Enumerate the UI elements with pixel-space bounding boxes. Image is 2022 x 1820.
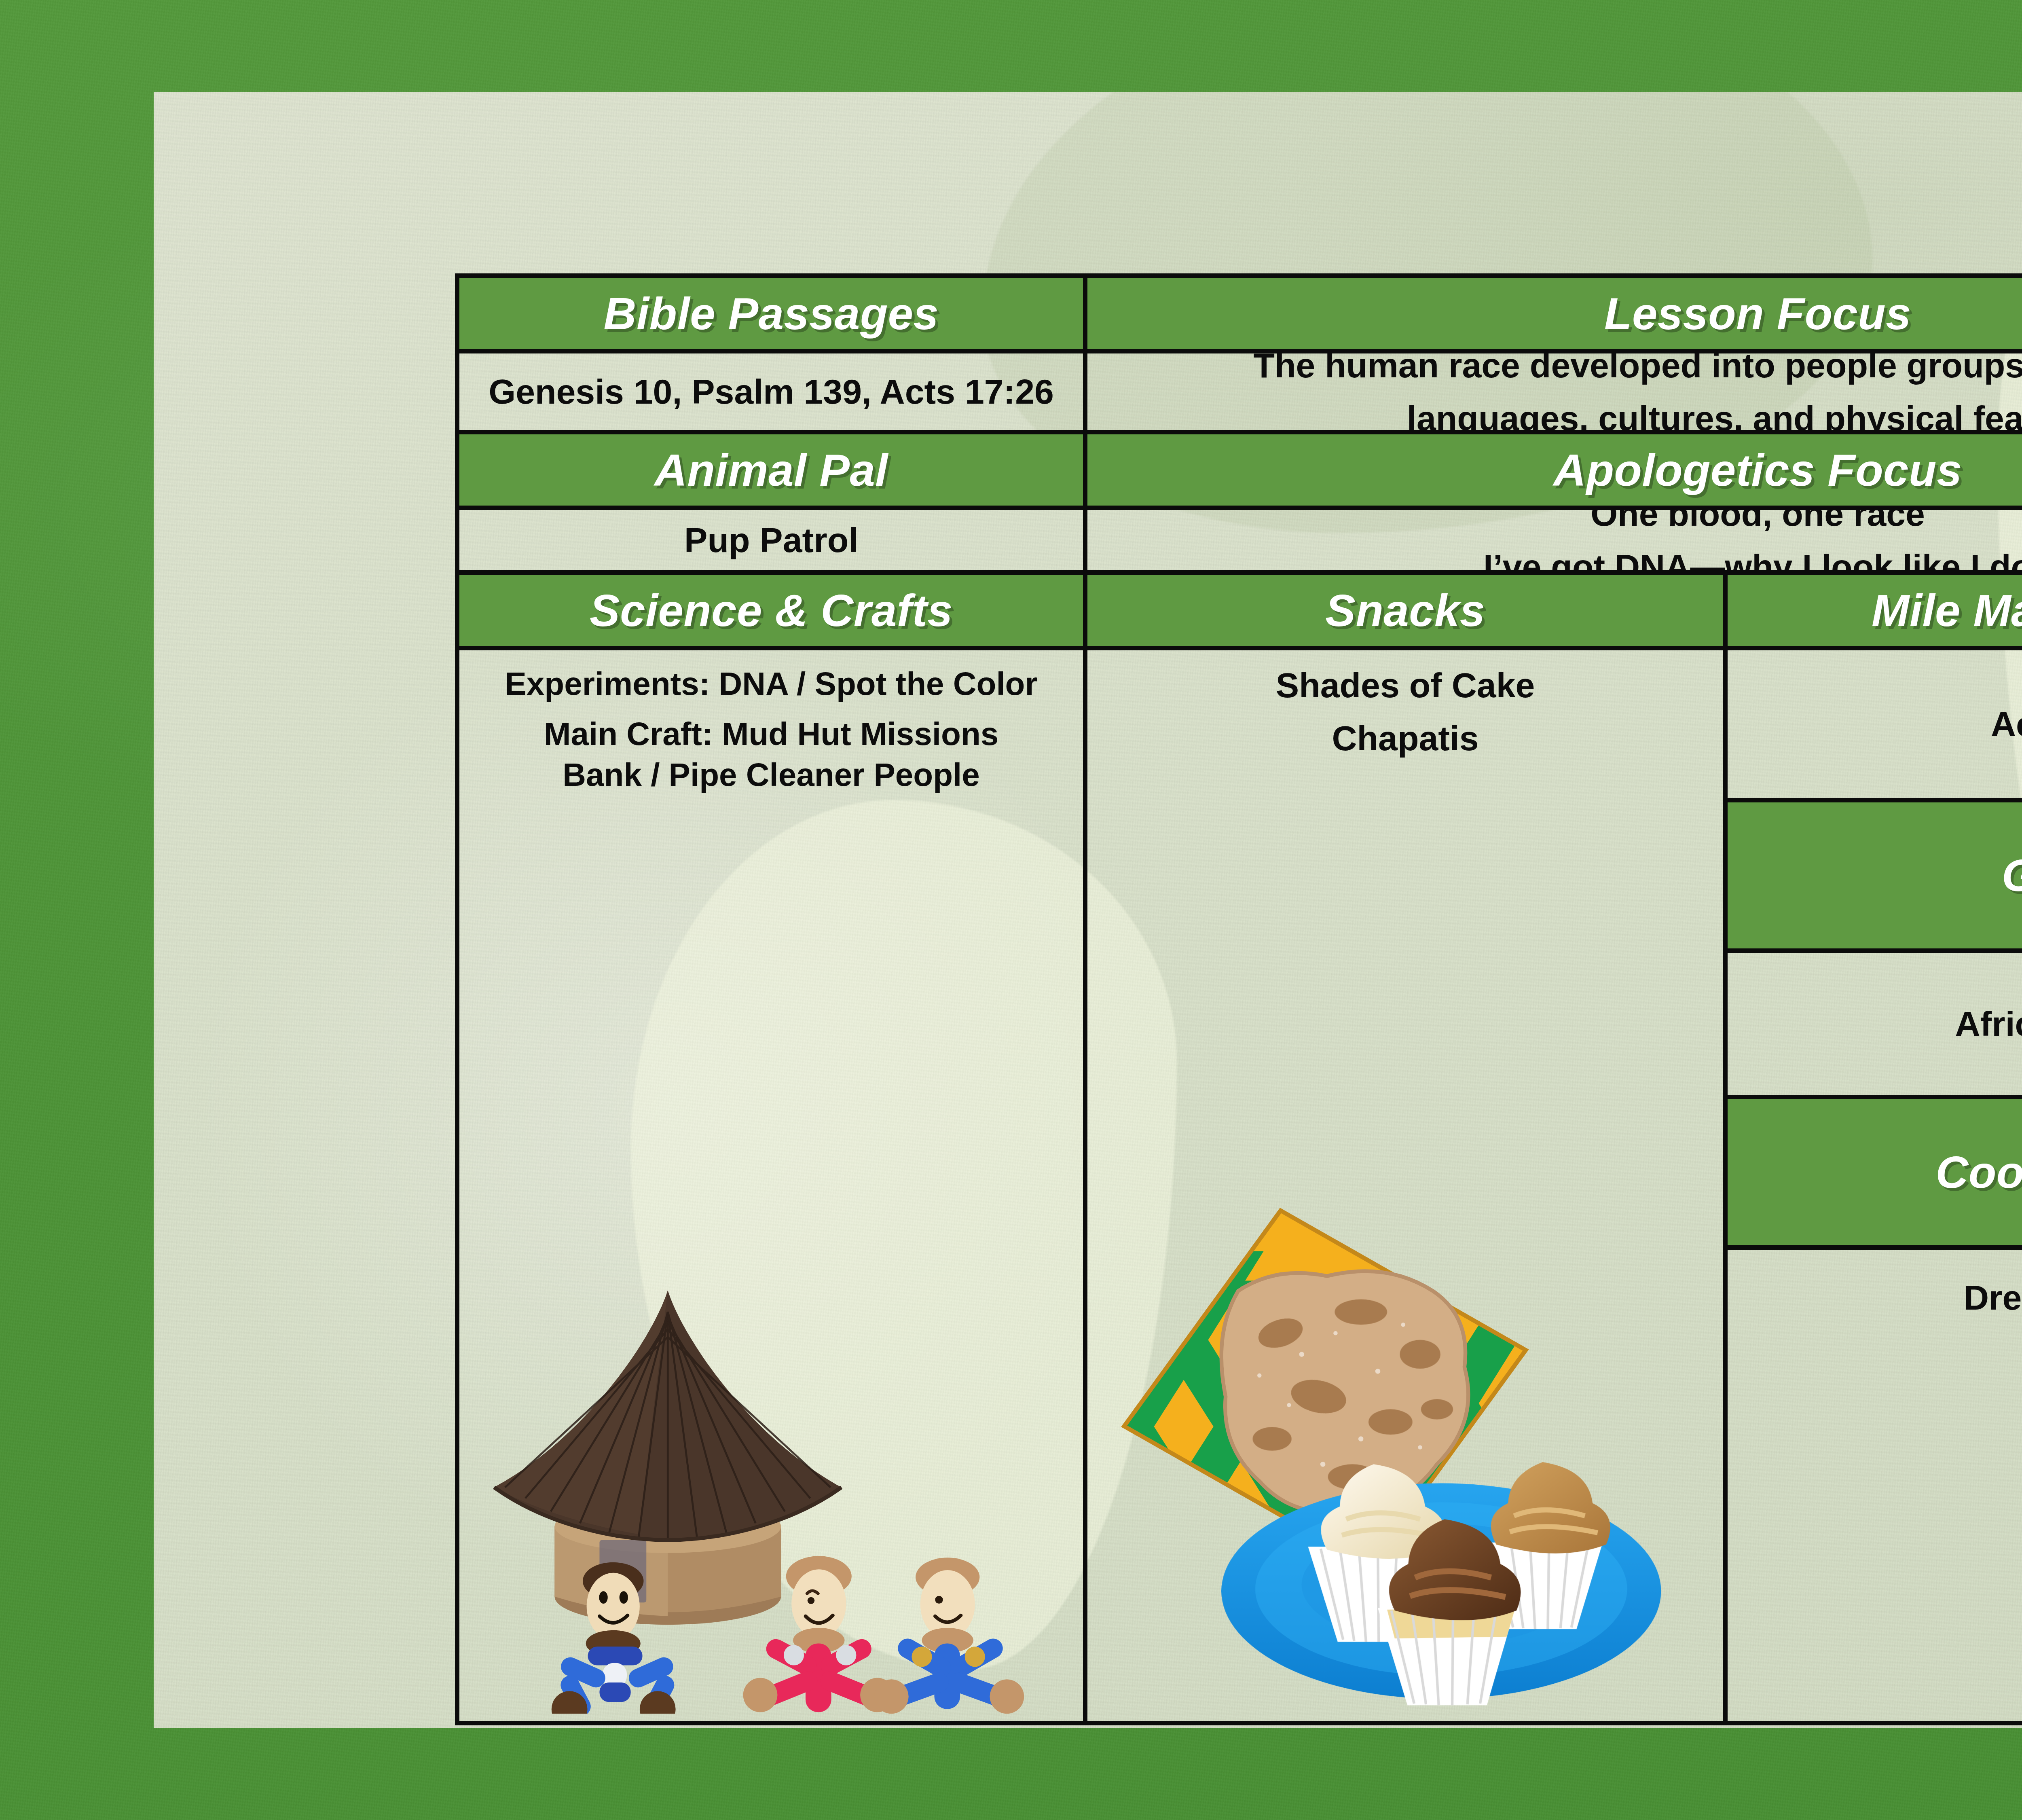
table-row: Pup Patrol One blood, one race I’ve got … — [459, 510, 2022, 575]
header-label: Apologetics Focus — [1553, 444, 1962, 496]
header-label: Lesson Focus — [1604, 288, 1911, 340]
header-apologetics-focus: Apologetics Focus — [1087, 434, 2022, 510]
cell-line: I’ve got DNA—why I look like I do — [1483, 546, 2022, 575]
header-mile-marker-verses: Mile Marker Verses — [1728, 575, 2022, 650]
cell-line: Main Craft: Mud Hut Missions — [471, 714, 1072, 754]
cell-animal-pal-value: Pup Patrol — [459, 510, 1087, 575]
table-row: Science & Crafts Snacks Mile Marker Vers… — [459, 575, 2022, 650]
cell-right-stack: Acts 17:26 Games African Games Cool Cont… — [1728, 650, 2022, 1721]
snacks-text: Shades of Cake Chapatis — [1099, 664, 1712, 760]
header-science-and-crafts: Science & Crafts — [459, 575, 1087, 650]
table-row: Genesis 10, Psalm 139, Acts 17:26 The hu… — [459, 353, 2022, 434]
cell-science-and-crafts-value: Experiments: DNA / Spot the Color Main C… — [459, 650, 1087, 1721]
header-label: Snacks — [1325, 584, 1485, 637]
cell-line: Genesis 10, Psalm 139, Acts 17:26 — [489, 370, 1054, 413]
header-label: Games — [2002, 849, 2022, 902]
table-row: Experiments: DNA / Spot the Color Main C… — [459, 650, 2022, 1721]
right-stack: Acts 17:26 Games African Games Cool Cont… — [1728, 650, 2022, 1721]
cell-line: Pup Patrol — [684, 519, 858, 561]
cell-line: African Games — [1955, 1003, 2022, 1045]
header-label: Science & Crafts — [590, 584, 953, 637]
cell-line: languages, cultures, and physical featur… — [1407, 397, 2022, 435]
cell-line: Shades of Cake — [1099, 664, 1712, 707]
cell-line: The human race developed into people gro… — [1253, 353, 2022, 387]
mud-hut-and-pipe-cleaner-people-illustration — [471, 795, 1072, 1714]
header-label: Mile Marker Verses — [1872, 584, 2022, 637]
pipe-cleaner-figure-3 — [874, 1558, 1024, 1714]
table-row: Bible Passages Lesson Focus — [459, 278, 2022, 353]
cell-line: Bank / Pipe Cleaner People — [471, 755, 1072, 795]
header-lesson-focus: Lesson Focus — [1087, 278, 2022, 353]
header-snacks: Snacks — [1087, 575, 1728, 650]
craft-photo — [471, 795, 1072, 1714]
cell-games-value: African Games — [1728, 953, 2022, 1099]
cell-snacks-value: Shades of Cake Chapatis — [1087, 650, 1728, 1721]
cell-line: Experiments: DNA / Spot the Color — [471, 664, 1072, 704]
cell-lesson-focus-value: The human race developed into people gro… — [1087, 353, 2022, 434]
header-bible-passages: Bible Passages — [459, 278, 1087, 353]
cell-line: Acts 17:26 — [1991, 703, 2022, 745]
table-row: Animal Pal Apologetics Focus — [459, 434, 2022, 510]
cell-bible-passages-value: Genesis 10, Psalm 139, Acts 17:26 — [459, 353, 1087, 434]
header-cool-contest: Cool Contest — [1728, 1099, 2022, 1250]
chapati-and-cupcakes-illustration — [1099, 760, 1712, 1714]
slide-canvas: Bible Passages Lesson Focus Genesis 10, … — [0, 0, 2022, 1820]
cell-line: Dress-Up Day — [1964, 1276, 2022, 1319]
snack-photo — [1099, 760, 1712, 1714]
header-label: Cool Contest — [1936, 1146, 2022, 1198]
cell-mile-marker-verse-value: Acts 17:26 — [1728, 650, 2022, 802]
science-crafts-text: Experiments: DNA / Spot the Color Main C… — [471, 664, 1072, 795]
header-animal-pal: Animal Pal — [459, 434, 1087, 510]
cell-line: One blood, one race — [1591, 510, 1925, 535]
day-overview-table: Bible Passages Lesson Focus Genesis 10, … — [455, 273, 2022, 1725]
content-panel: Bible Passages Lesson Focus Genesis 10, … — [154, 92, 2022, 1728]
cell-cool-contest-value: Dress-Up Day — [1728, 1250, 2022, 1721]
header-label: Animal Pal — [654, 444, 888, 496]
header-games: Games — [1728, 802, 2022, 953]
cell-apologetics-focus-value: One blood, one race I’ve got DNA—why I l… — [1087, 510, 2022, 575]
header-label: Bible Passages — [604, 288, 939, 340]
cell-line: Chapatis — [1099, 717, 1712, 760]
